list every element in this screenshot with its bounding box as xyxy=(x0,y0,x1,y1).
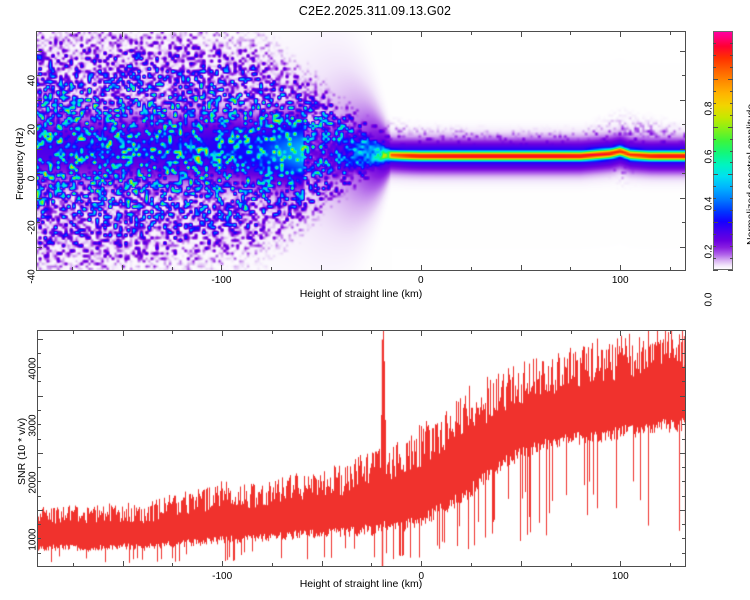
axis-tick xyxy=(713,258,716,259)
axis-tick xyxy=(730,210,733,211)
axis-tick xyxy=(730,151,733,152)
axis-tick xyxy=(730,115,733,116)
axis-tick-label: 100 xyxy=(590,275,650,286)
axis-tick xyxy=(730,198,733,199)
axis-tick xyxy=(730,162,733,163)
axis-tick xyxy=(421,561,422,567)
snr-ylabel: SNR (10 * v/v) xyxy=(16,418,28,485)
axis-tick xyxy=(122,31,123,37)
axis-tick xyxy=(713,67,716,68)
spectrogram-xlabel: Height of straight line (km) xyxy=(211,288,511,300)
snr-plot-area xyxy=(37,330,686,567)
axis-tick xyxy=(730,139,733,140)
axis-tick xyxy=(713,210,716,211)
axis-tick xyxy=(272,563,273,567)
axis-tick xyxy=(37,553,41,554)
axis-tick xyxy=(222,561,223,567)
figure-root: C2E2.2025.311.09.13.G02 -1000100-40-2002… xyxy=(0,0,750,600)
axis-tick xyxy=(172,31,173,35)
axis-tick xyxy=(271,267,272,271)
axis-tick xyxy=(682,496,686,497)
axis-tick xyxy=(37,439,41,440)
axis-tick xyxy=(682,410,686,411)
axis-tick xyxy=(36,222,40,223)
axis-tick xyxy=(37,353,41,354)
page-title: C2E2.2025.311.09.13.G02 xyxy=(0,4,750,18)
axis-tick xyxy=(713,139,716,140)
axis-tick xyxy=(521,31,522,37)
axis-tick xyxy=(521,330,522,336)
axis-tick xyxy=(713,186,716,187)
axis-tick xyxy=(321,31,322,37)
axis-tick-label: 100 xyxy=(590,571,650,582)
axis-tick xyxy=(272,330,273,334)
axis-tick xyxy=(682,367,686,368)
axis-tick xyxy=(123,561,124,567)
axis-tick xyxy=(670,31,671,35)
axis-tick xyxy=(713,198,716,199)
axis-tick xyxy=(37,410,41,411)
axis-tick xyxy=(728,270,733,271)
axis-tick xyxy=(36,173,40,174)
axis-tick xyxy=(471,330,472,334)
axis-tick xyxy=(680,247,686,248)
axis-tick xyxy=(680,453,686,454)
axis-tick xyxy=(37,538,41,539)
axis-tick xyxy=(321,265,322,271)
axis-tick xyxy=(713,103,716,104)
axis-tick xyxy=(73,330,74,334)
axis-tick xyxy=(713,234,716,235)
axis-tick xyxy=(421,265,422,271)
axis-tick xyxy=(728,127,733,128)
spectrogram-image xyxy=(37,32,686,271)
axis-tick xyxy=(36,75,40,76)
axis-tick xyxy=(670,267,671,271)
axis-tick xyxy=(271,31,272,35)
axis-tick xyxy=(123,330,124,336)
axis-tick xyxy=(222,330,223,336)
axis-tick xyxy=(371,31,372,35)
axis-tick xyxy=(371,267,372,271)
axis-tick xyxy=(471,267,472,271)
axis-tick xyxy=(682,222,686,223)
axis-tick xyxy=(371,563,372,567)
axis-tick xyxy=(571,563,572,567)
axis-tick xyxy=(172,267,173,271)
axis-tick xyxy=(322,561,323,567)
axis-tick xyxy=(72,267,73,271)
axis-tick xyxy=(728,79,733,80)
axis-tick xyxy=(713,43,716,44)
axis-tick xyxy=(37,524,41,525)
axis-tick xyxy=(728,174,733,175)
axis-tick xyxy=(670,563,671,567)
axis-tick xyxy=(521,561,522,567)
axis-tick xyxy=(521,265,522,271)
axis-tick xyxy=(730,67,733,68)
axis-tick xyxy=(730,55,733,56)
axis-tick xyxy=(680,339,686,340)
axis-tick xyxy=(570,267,571,271)
axis-tick xyxy=(682,424,686,425)
axis-tick xyxy=(730,43,733,44)
axis-tick xyxy=(36,124,40,125)
axis-tick xyxy=(680,396,686,397)
axis-tick xyxy=(730,103,733,104)
axis-tick xyxy=(571,330,572,334)
axis-tick xyxy=(322,330,323,336)
axis-tick xyxy=(620,265,621,271)
axis-tick xyxy=(713,246,716,247)
axis-tick xyxy=(471,31,472,35)
axis-tick xyxy=(682,439,686,440)
colorbar-label: Normalized spectral amplitude xyxy=(745,104,750,245)
axis-tick xyxy=(37,367,41,368)
axis-tick xyxy=(172,330,173,334)
axis-tick xyxy=(682,553,686,554)
axis-tick xyxy=(73,563,74,567)
axis-tick xyxy=(682,467,686,468)
axis-tick xyxy=(37,496,41,497)
axis-tick xyxy=(682,538,686,539)
axis-tick xyxy=(172,563,173,567)
axis-tick xyxy=(730,258,733,259)
axis-tick xyxy=(620,31,621,37)
axis-tick xyxy=(72,31,73,35)
axis-tick-label: 0 xyxy=(391,275,451,286)
axis-tick xyxy=(682,124,686,125)
axis-tick xyxy=(221,31,222,37)
axis-tick xyxy=(471,563,472,567)
spectrogram-plot-area xyxy=(36,31,686,271)
axis-tick xyxy=(730,91,733,92)
axis-tick xyxy=(371,330,372,334)
axis-tick xyxy=(730,246,733,247)
axis-tick xyxy=(713,91,716,92)
axis-tick xyxy=(620,330,621,336)
axis-tick xyxy=(680,51,686,52)
axis-tick xyxy=(713,55,716,56)
axis-tick xyxy=(37,381,41,382)
axis-tick xyxy=(421,31,422,37)
axis-tick xyxy=(713,162,716,163)
axis-tick xyxy=(713,115,716,116)
axis-tick xyxy=(670,330,671,334)
axis-tick xyxy=(682,173,686,174)
axis-tick xyxy=(122,265,123,271)
axis-tick xyxy=(730,234,733,235)
snr-trace xyxy=(38,331,686,567)
axis-tick xyxy=(570,31,571,35)
axis-tick xyxy=(37,481,41,482)
axis-tick xyxy=(37,424,41,425)
axis-tick xyxy=(680,149,686,150)
axis-tick xyxy=(713,151,716,152)
axis-tick-label: -100 xyxy=(191,275,251,286)
axis-tick xyxy=(682,481,686,482)
axis-tick xyxy=(680,100,686,101)
axis-tick xyxy=(620,561,621,567)
snr-xlabel: Height of straight line (km) xyxy=(211,578,511,590)
axis-tick xyxy=(221,265,222,271)
axis-tick xyxy=(680,198,686,199)
axis-tick xyxy=(682,353,686,354)
axis-tick xyxy=(682,381,686,382)
axis-tick-label: 40 xyxy=(27,50,38,110)
axis-tick xyxy=(728,222,733,223)
axis-tick xyxy=(421,330,422,336)
axis-tick xyxy=(682,524,686,525)
axis-tick-label: 0.8 xyxy=(704,78,715,138)
spectrogram-ylabel: Frequency (Hz) xyxy=(14,128,26,200)
axis-tick xyxy=(680,510,686,511)
axis-tick xyxy=(730,186,733,187)
axis-tick xyxy=(37,467,41,468)
axis-tick xyxy=(682,75,686,76)
